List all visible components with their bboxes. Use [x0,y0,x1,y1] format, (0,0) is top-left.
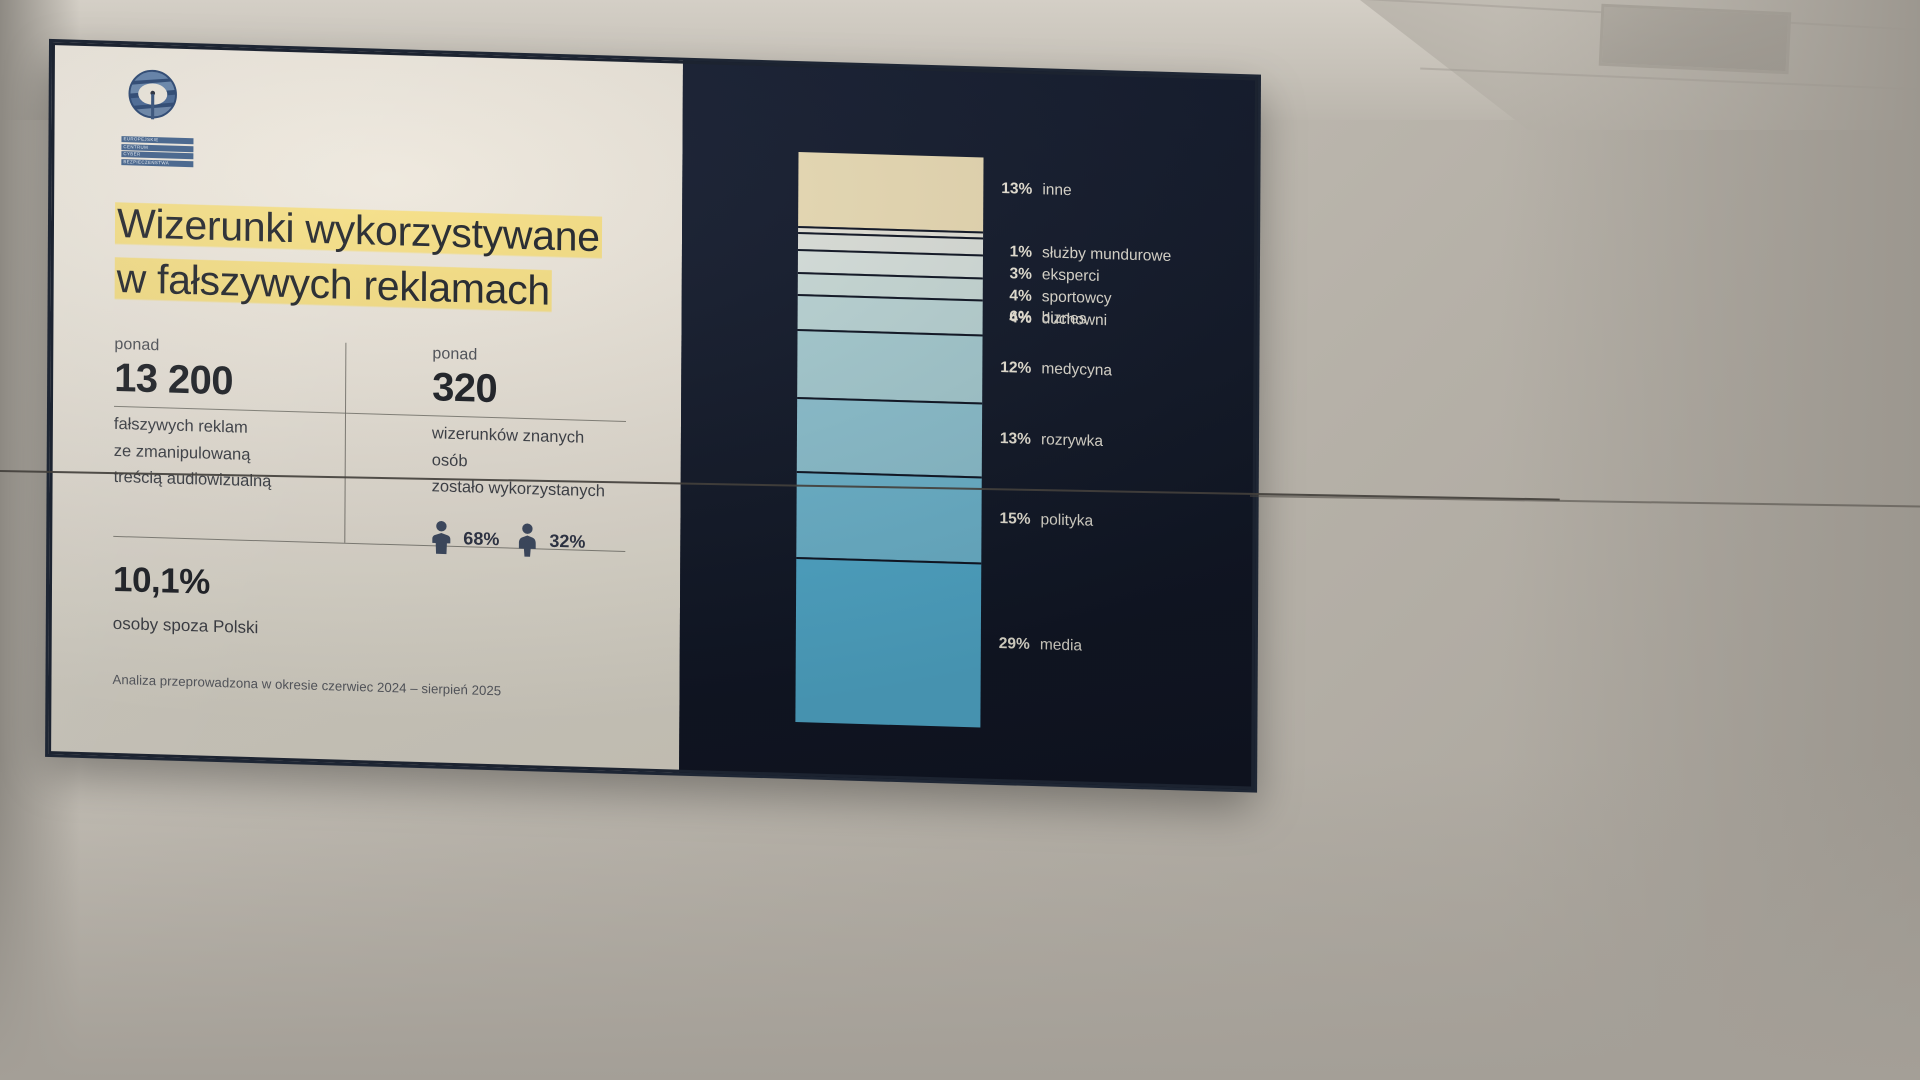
legend-label: biznes [1042,309,1087,328]
gender-breakdown: 68% 32% [431,520,607,559]
meeting-room-wall: EUROPEJSKIE CENTRUM CYBER BEZPIECZEŃSTWA… [0,0,1920,1080]
stat-desc-line-1: fałszywych reklam [114,415,248,437]
legend-label: media [1040,637,1082,656]
stats-grid: ponad 13 200 fałszywych reklam ze zmanip… [113,336,626,560]
stat-value: 320 [432,366,608,413]
legend-label: służby mundurowe [1042,244,1171,266]
legend-percent: 15% [996,510,1030,529]
gender-item-female: 32% [517,523,585,559]
legend-item-biznes: 6%biznes [998,308,1087,329]
legend-label: sportowcy [1042,288,1112,308]
legend-percent: 3% [998,265,1032,284]
chart-legend: 13%inne1%służby mundurowe3%eksperci4%spo… [995,158,1258,736]
footnote: Analiza przeprowadzona w okresie czerwie… [112,672,501,698]
foreign-percent-value: 10,1% [113,560,625,615]
female-icon [517,523,537,558]
legend-item-eksperci: 3%eksperci [998,265,1100,286]
legend-item-medycyna: 12%medycyna [997,359,1112,380]
presentation-screen[interactable]: EUROPEJSKIE CENTRUM CYBER BEZPIECZEŃSTWA… [48,42,1258,790]
stat-description: fałszywych reklam ze zmanipulowaną treśc… [114,411,352,498]
stat-desc-line-1: wizerunków znanych osób [432,424,584,470]
logo: EUROPEJSKIE CENTRUM CYBER BEZPIECZEŃSTWA [121,66,200,160]
logo-wordmark: EUROPEJSKIE CENTRUM CYBER BEZPIECZEŃSTWA [121,136,193,167]
legend-label: eksperci [1042,266,1100,286]
chart-segment-media[interactable] [795,557,981,728]
legend-item-media: 29%media [996,635,1082,656]
stat-card-celebrity-images: ponad 320 wizerunków znanych osób został… [369,343,626,560]
legend-item-rozrywka: 13%rozrywka [997,430,1103,451]
gender-item-male: 68% [431,520,499,556]
slide-left-panel: EUROPEJSKIE CENTRUM CYBER BEZPIECZEŃSTWA… [48,42,683,773]
legend-percent: 13% [998,180,1032,199]
headline-line-1: Wizerunki wykorzystywane [115,199,602,261]
legend-percent: 13% [997,430,1031,449]
male-icon [431,520,451,555]
stat-description: wizerunków znanych osób zostało wykorzys… [432,420,608,505]
chart-segment-rozrywka[interactable] [797,397,982,477]
slide-right-panel: 13%inne1%służby mundurowe3%eksperci4%spo… [679,61,1258,790]
stat-value: 13 200 [114,357,352,406]
legend-percent: 12% [997,359,1031,378]
chart-segment-medycyna[interactable] [797,329,982,403]
wall-shadow-bottom [0,760,1920,1080]
legend-percent: 29% [996,635,1030,654]
stat-kicker: ponad [432,345,608,368]
legend-percent: 6% [998,308,1032,327]
stat-card-fake-ads: ponad 13 200 fałszywych reklam ze zmanip… [113,336,370,553]
gender-percent-female: 32% [549,530,585,552]
legend-label: polityka [1040,511,1093,531]
legend-label: medycyna [1041,360,1112,380]
headline-line-2: w fałszywych reklamach [115,253,552,314]
cyber-shield-logo-icon [122,66,184,130]
legend-item-polityka: 15%polityka [996,510,1093,531]
chart-segment-biznes[interactable] [798,295,983,335]
stacked-bar-chart [795,152,983,727]
legend-item-sportowcy: 4%sportowcy [998,287,1112,308]
legend-percent: 4% [998,287,1032,306]
legend-item-służby-mundurowe: 1%służby mundurowe [998,243,1171,266]
logo-line-4: BEZPIECZEŃSTWA [121,159,193,167]
chart-segment-inne[interactable] [798,152,983,232]
stat-desc-line-2: ze zmanipulowaną [114,442,251,464]
page-title: Wizerunki wykorzystywane w fałszywych re… [115,196,646,321]
stat-card-foreign-persons: 10,1% osoby spoza Polski [113,560,625,649]
legend-label: inne [1042,181,1071,200]
legend-item-inne: 13%inne [998,180,1071,200]
legend-label: rozrywka [1041,431,1103,451]
foreign-percent-description: osoby spoza Polski [113,614,625,649]
gender-percent-male: 68% [463,528,499,550]
legend-percent: 1% [998,243,1032,262]
